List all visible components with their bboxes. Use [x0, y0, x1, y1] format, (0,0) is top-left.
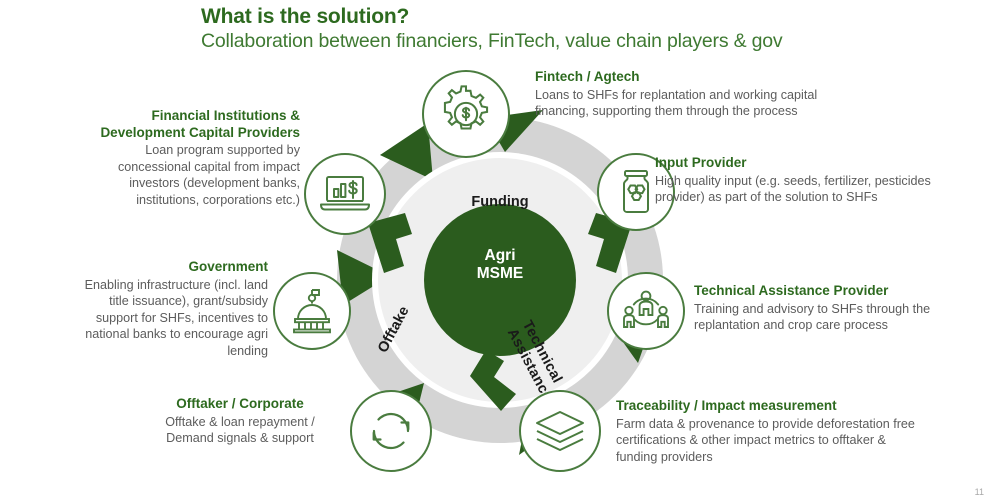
- text-block-traceability-impact-measurement: Traceability / Impact measurement Farm d…: [616, 398, 916, 465]
- node-title-offtaker-corporate: Offtaker / Corporate: [140, 396, 340, 413]
- slide-canvas: What is the solution? Collaboration betw…: [0, 0, 1000, 504]
- stacked-layers-icon: [533, 406, 587, 456]
- hub-label-line1: Agri: [300, 247, 700, 265]
- node-title-input-provider: Input Provider: [655, 155, 951, 172]
- text-block-fintech-agtech: Fintech / Agtech Loans to SHFs for repla…: [535, 69, 823, 120]
- text-block-input-provider: Input Provider High quality input (e.g. …: [655, 155, 951, 206]
- page-subtitle: Collaboration between financiers, FinTec…: [201, 30, 782, 53]
- node-body-traceability-impact-measurement: Farm data & provenance to provide defore…: [616, 416, 916, 466]
- gear-dollar-icon: [437, 85, 495, 143]
- page-title: What is the solution?: [201, 5, 409, 29]
- text-block-offtaker-corporate: Offtaker / Corporate Offtake & loan repa…: [140, 396, 340, 447]
- jar-hexagons-icon: [611, 167, 661, 217]
- node-icon-traceability-impact-measurement[interactable]: [519, 390, 601, 472]
- capitol-building-icon: [287, 286, 337, 336]
- node-title-traceability-impact-measurement: Traceability / Impact measurement: [616, 398, 916, 415]
- three-people-icon: [620, 285, 672, 337]
- node-icon-offtaker-corporate[interactable]: [350, 390, 432, 472]
- node-icon-technical-assistance-provider[interactable]: [607, 272, 685, 350]
- node-title-fintech-agtech: Fintech / Agtech: [535, 69, 823, 86]
- circular-arrows-icon: [364, 404, 418, 458]
- text-block-financial-institutions: Financial Institutions & Development Cap…: [70, 108, 300, 208]
- node-body-financial-institutions: Loan program supported by concessional c…: [70, 142, 300, 208]
- text-block-technical-assistance-provider: Technical Assistance Provider Training a…: [694, 283, 994, 334]
- text-block-government: Government Enabling infrastructure (incl…: [68, 259, 268, 359]
- node-icon-government[interactable]: [273, 272, 351, 350]
- node-title-government: Government: [68, 259, 268, 276]
- laptop-chart-dollar-icon: [318, 171, 372, 217]
- page-number: 11: [975, 487, 984, 497]
- node-body-government: Enabling infrastructure (incl. land titl…: [68, 277, 268, 360]
- node-icon-fintech-agtech[interactable]: [422, 70, 510, 158]
- node-body-fintech-agtech: Loans to SHFs for replantation and worki…: [535, 87, 823, 120]
- node-body-offtaker-corporate: Offtake & loan repayment / Demand signal…: [140, 414, 340, 447]
- node-body-input-provider: High quality input (e.g. seeds, fertiliz…: [655, 173, 951, 206]
- node-body-technical-assistance-provider: Training and advisory to SHFs through th…: [694, 301, 994, 334]
- node-title-technical-assistance-provider: Technical Assistance Provider: [694, 283, 994, 300]
- node-icon-financial-institutions[interactable]: [304, 153, 386, 235]
- node-title-financial-institutions: Financial Institutions & Development Cap…: [70, 108, 300, 141]
